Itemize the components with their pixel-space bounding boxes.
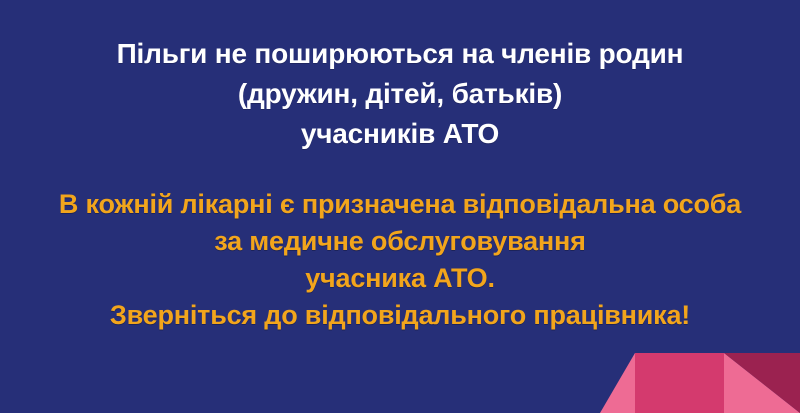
primary-message-block: Пільги не поширюються на членів родин (д… [0,34,800,154]
geometric-corner-graphic [600,343,800,413]
primary-message-line-1: Пільги не поширюються на членів родин [0,34,800,74]
primary-message-line-2: (дружин, дітей, батьків) [0,74,800,114]
secondary-message-line-3: учасника АТО. [0,260,800,297]
decoration-shape-crimson-block [635,353,724,413]
decoration-shape-light-triangle-left [600,353,635,413]
primary-message-line-3: учасників АТО [0,114,800,154]
secondary-message-block: В кожній лікарні є призначена відповідал… [0,186,800,334]
secondary-message-line-2: за медичне обслуговування [0,223,800,260]
slide-canvas: Пільги не поширюються на членів родин (д… [0,0,800,413]
secondary-message-line-1: В кожній лікарні є призначена відповідал… [0,186,800,223]
secondary-message-line-4: Звернiться до відповідального працівника… [0,297,800,334]
